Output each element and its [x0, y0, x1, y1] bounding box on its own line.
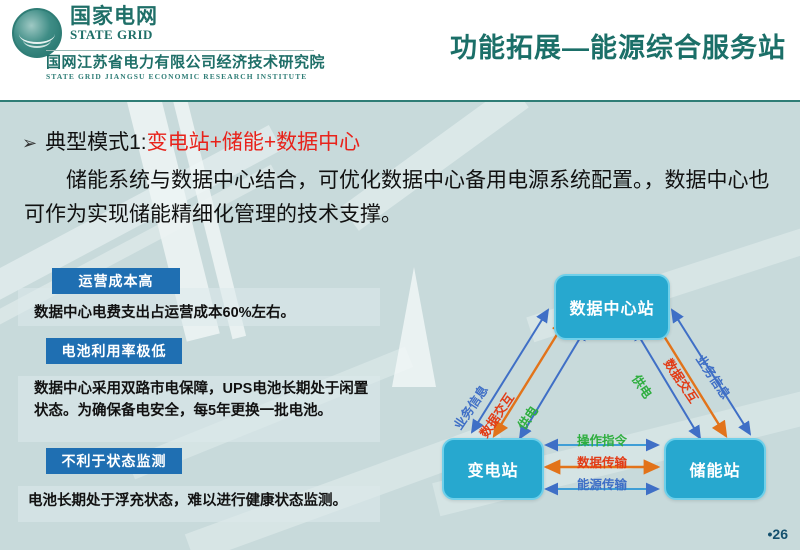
- institute-name-en: STATE GRID JIANGSU ECONOMIC RESEARCH INS…: [46, 72, 325, 81]
- bullet-arrow-icon: ➢: [22, 133, 37, 153]
- node-data-center[interactable]: 数据中心站: [554, 274, 670, 340]
- institute-name-cn: 国网江苏省电力有限公司经济技术研究院: [46, 54, 325, 71]
- logo-company-en: STATE GRID: [70, 28, 158, 42]
- slide-header: 国家电网 STATE GRID 国网江苏省电力有限公司经济技术研究院 STATE…: [0, 0, 800, 102]
- callout-tag-operating-cost: 运营成本高: [52, 268, 180, 294]
- logo-text-block: 国家电网 STATE GRID: [70, 6, 158, 42]
- callout-text-battery-utilization: 数据中心采用双路市电保障，UPS电池长期处于闲置状态。为确保备电安全，每5年更换…: [34, 378, 378, 423]
- node-energy-storage[interactable]: 储能站: [664, 438, 766, 500]
- page-number: •26: [768, 526, 788, 542]
- link-label-operation-command: 操作指令: [556, 430, 648, 449]
- slide-root: 国家电网 STATE GRID 国网江苏省电力有限公司经济技术研究院 STATE…: [0, 0, 800, 550]
- bullet-heading: ➢典型模式1:变电站+储能+数据中心: [22, 126, 360, 156]
- architecture-diagram: 数据中心站 变电站 储能站 业务信息 数据交互 供电 业务信息 数据交互 供电 …: [420, 250, 800, 540]
- link-label-energy-transmission: 能源传输: [556, 474, 648, 493]
- callout-text-operating-cost: 数据中心电费支出占运营成本60%左右。: [34, 302, 374, 324]
- node-substation[interactable]: 变电站: [442, 438, 544, 500]
- bullet-prefix-text: 典型模式1:: [45, 131, 147, 154]
- callout-text-state-monitoring: 电池长期处于浮充状态，难以进行健康状态监测。: [28, 490, 378, 512]
- body-paragraph: 储能系统与数据中心结合，可优化数据中心备用电源系统配置。，数据中心也可作为实现储…: [24, 164, 772, 232]
- header-divider: [0, 100, 800, 102]
- bullet-highlight-text: 变电站+储能+数据中心: [147, 131, 361, 154]
- institute-divider: [46, 50, 314, 51]
- callout-tag-battery-utilization: 电池利用率极低: [46, 338, 182, 364]
- link-label-data-transmission: 数据传输: [556, 452, 648, 471]
- institute-block: 国网江苏省电力有限公司经济技术研究院 STATE GRID JIANGSU EC…: [46, 50, 325, 81]
- callout-tag-state-monitoring: 不利于状态监测: [46, 448, 182, 474]
- page-title: 功能拓展—能源综合服务站: [450, 26, 786, 65]
- logo-company-cn: 国家电网: [70, 6, 158, 28]
